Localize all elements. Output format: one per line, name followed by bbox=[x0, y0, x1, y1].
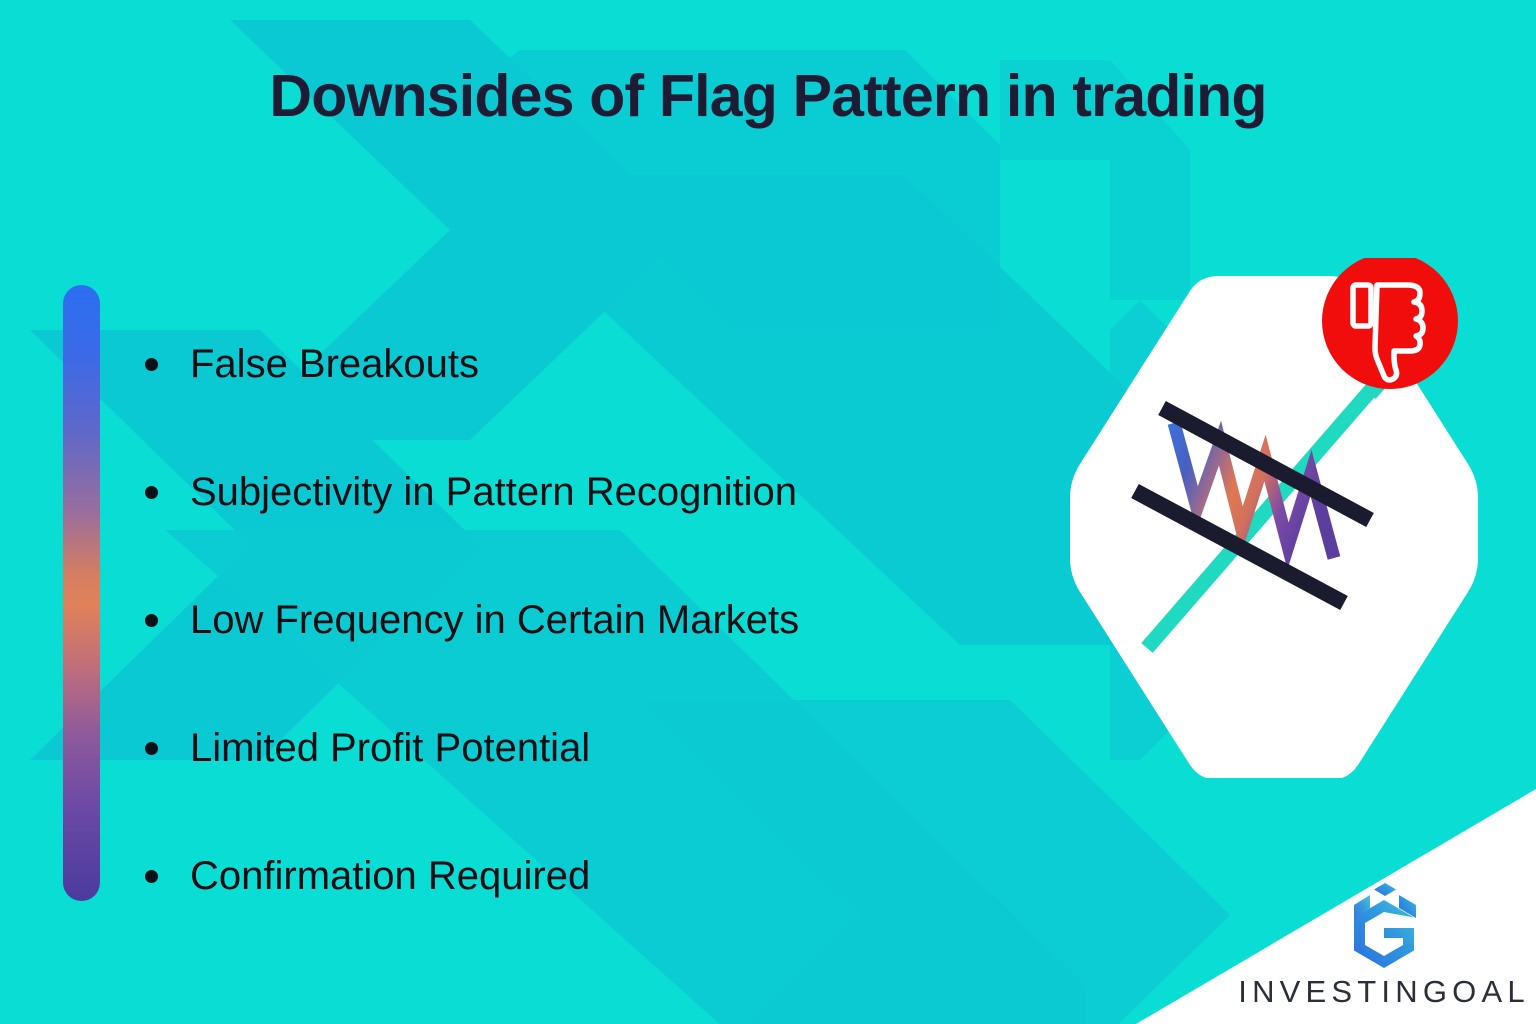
list-item-label: Limited Profit Potential bbox=[190, 726, 590, 771]
list-item-label: Subjectivity in Pattern Recognition bbox=[190, 470, 797, 515]
gradient-accent-bar bbox=[63, 285, 100, 901]
investingoal-wordmark: INVESTINGOAL bbox=[1238, 974, 1530, 1010]
list-item: Subjectivity in Pattern Recognition bbox=[145, 428, 1045, 556]
list-item-label: Confirmation Required bbox=[190, 854, 590, 899]
page-title: Downsides of Flag Pattern in trading bbox=[0, 62, 1536, 130]
thumbs-down-badge-circle bbox=[1322, 258, 1458, 389]
bullet-dot-icon bbox=[145, 486, 158, 499]
flag-pattern-chart-illustration bbox=[1022, 258, 1522, 778]
list-item: Low Frequency in Certain Markets bbox=[145, 556, 1045, 684]
list-item: Limited Profit Potential bbox=[145, 684, 1045, 812]
list-item-label: Low Frequency in Certain Markets bbox=[190, 598, 799, 643]
list-item-label: False Breakouts bbox=[190, 342, 479, 387]
bullet-dot-icon bbox=[145, 358, 158, 371]
bullet-dot-icon bbox=[145, 870, 158, 883]
list-item: Confirmation Required bbox=[145, 812, 1045, 940]
bullet-dot-icon bbox=[145, 614, 158, 627]
bullet-dot-icon bbox=[145, 742, 158, 755]
thumbs-down-badge bbox=[1322, 258, 1458, 389]
list-item: False Breakouts bbox=[145, 300, 1045, 428]
infographic-canvas: Downsides of Flag Pattern in trading Fal… bbox=[0, 0, 1536, 1024]
investingoal-mark-icon bbox=[1346, 880, 1422, 968]
investingoal-logo: INVESTINGOAL bbox=[1250, 852, 1518, 1010]
downsides-list: False Breakouts Subjectivity in Pattern … bbox=[145, 300, 1045, 940]
